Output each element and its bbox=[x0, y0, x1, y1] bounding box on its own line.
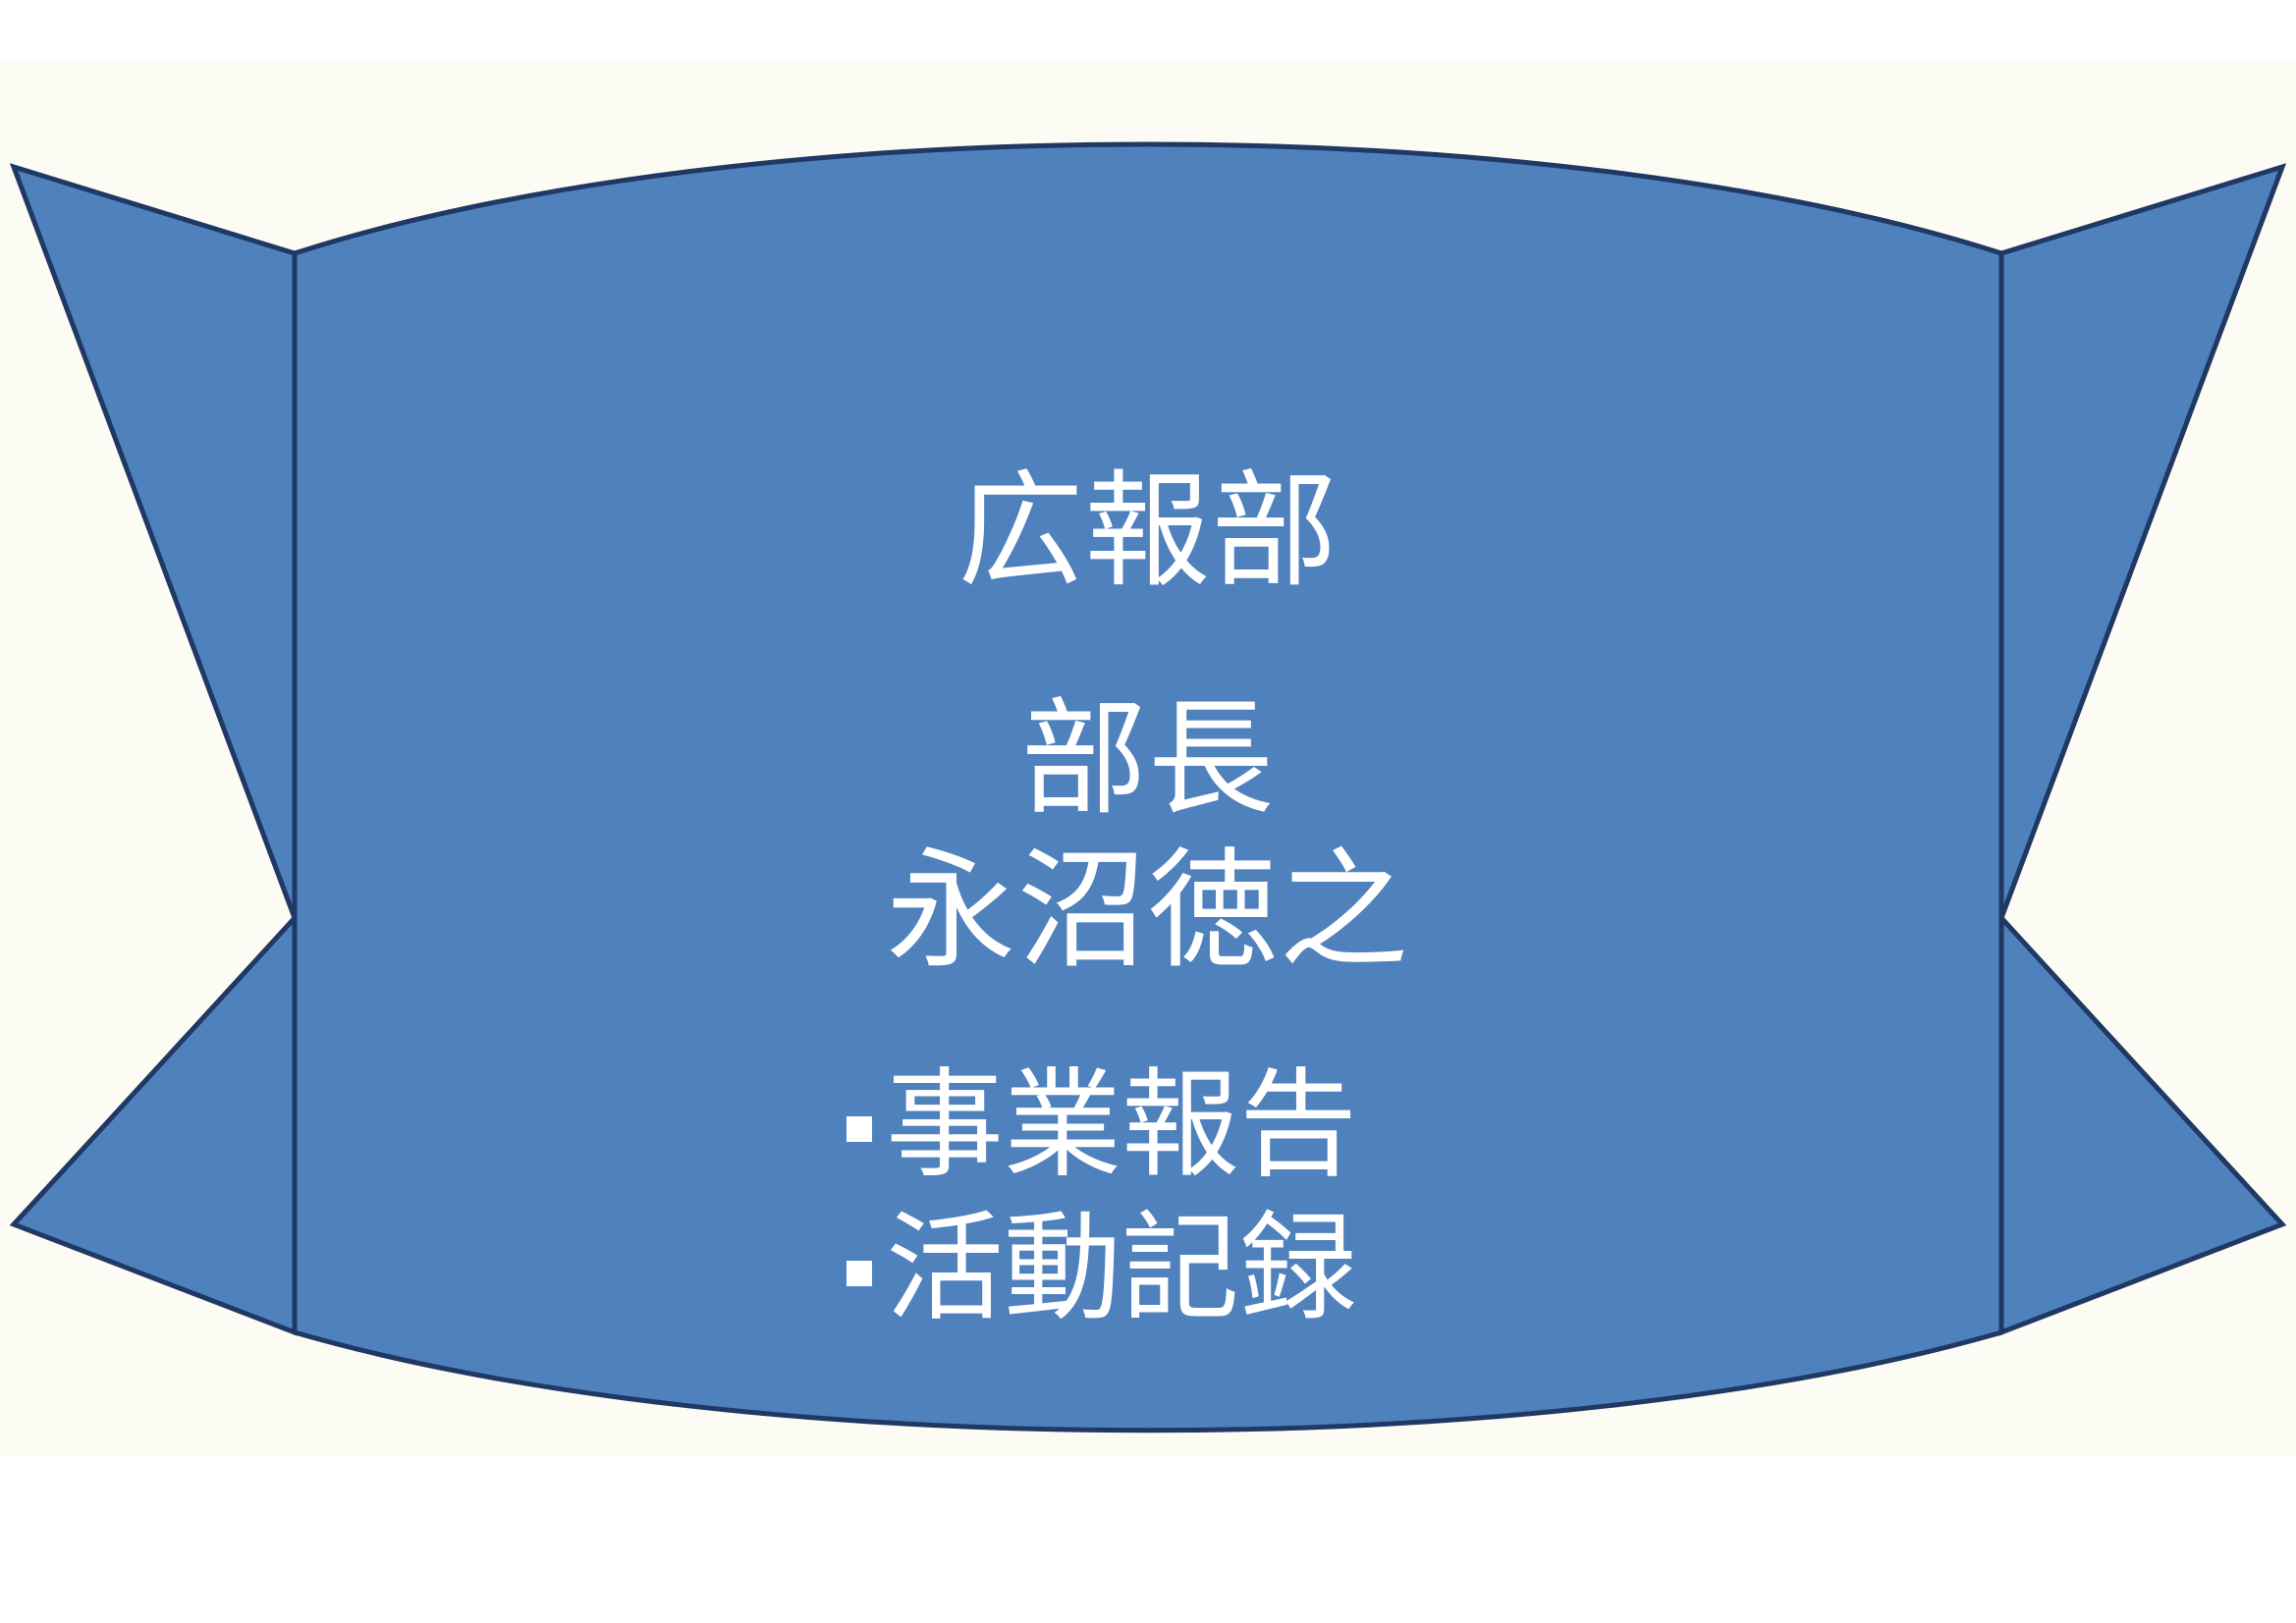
list-item: 事業報告 bbox=[0, 1060, 2296, 1192]
department-heading: 広報部 bbox=[0, 469, 2296, 595]
slide-canvas-root: 広報部 部長 永沼徳之 事業報告 活動記録 bbox=[0, 0, 2296, 1623]
person-name-heading: 永沼徳之 bbox=[0, 846, 2296, 976]
bullet-label: 事業報告 bbox=[886, 1060, 1357, 1192]
bullet-label: 活動記録 bbox=[886, 1204, 1357, 1335]
role-title-heading: 部長 bbox=[0, 697, 2296, 823]
list-item: 活動記録 bbox=[0, 1204, 2296, 1335]
square-bullet-icon bbox=[847, 1116, 872, 1142]
square-bullet-icon bbox=[847, 1261, 872, 1286]
bullet-list: 事業報告 活動記録 bbox=[0, 1060, 2296, 1348]
